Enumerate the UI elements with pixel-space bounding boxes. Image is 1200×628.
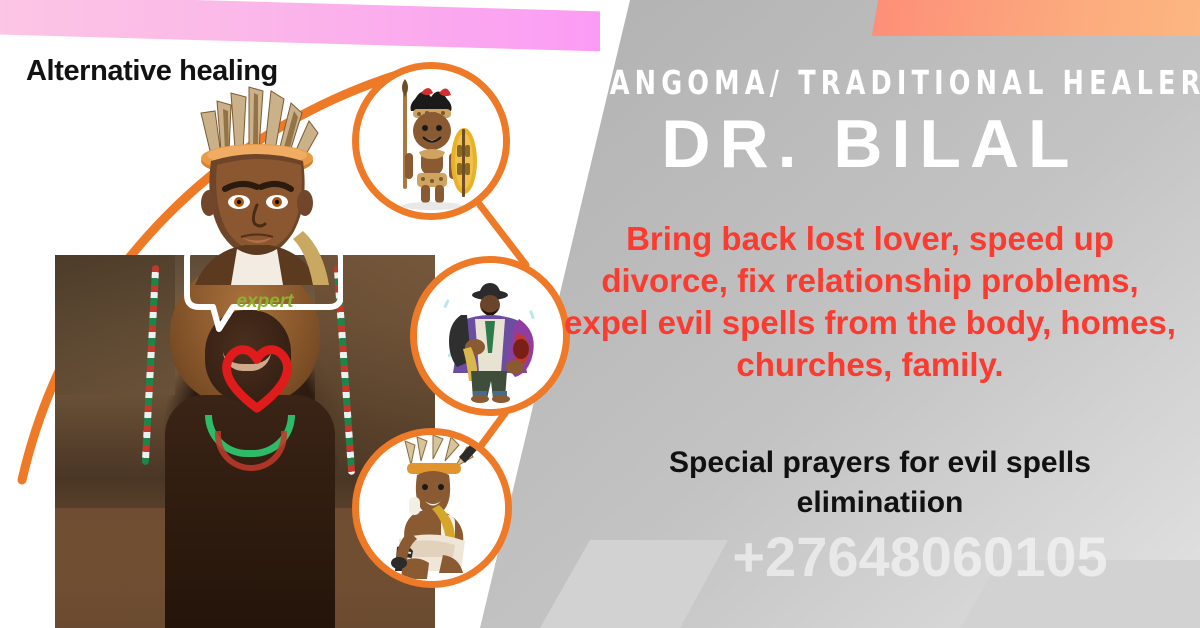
kicker-text: SANGOMA/ TRADITIONAL HEALER <box>586 63 1154 102</box>
healer-name: DR. BILAL <box>540 105 1200 183</box>
left-artwork-column: Alternative healing <box>0 0 620 628</box>
zulu-warrior-icon <box>359 69 503 213</box>
circle-zulu-warrior <box>352 62 510 220</box>
red-heart-icon <box>218 340 296 414</box>
prayers-text: Special prayers for evil spells eliminat… <box>585 443 1175 523</box>
services-text: Bring back lost lover, speed up divorce,… <box>560 218 1180 386</box>
circle-crouching-warrior <box>352 428 512 588</box>
poster-canvas: Alternative healing <box>0 0 1200 628</box>
crouching-warrior-icon <box>359 435 505 581</box>
page-title: Alternative healing <box>26 55 278 88</box>
phone-watermark: +27648060105 <box>640 524 1200 589</box>
right-text-column: SANGOMA/ TRADITIONAL HEALER DR. BILAL Br… <box>540 0 1200 628</box>
